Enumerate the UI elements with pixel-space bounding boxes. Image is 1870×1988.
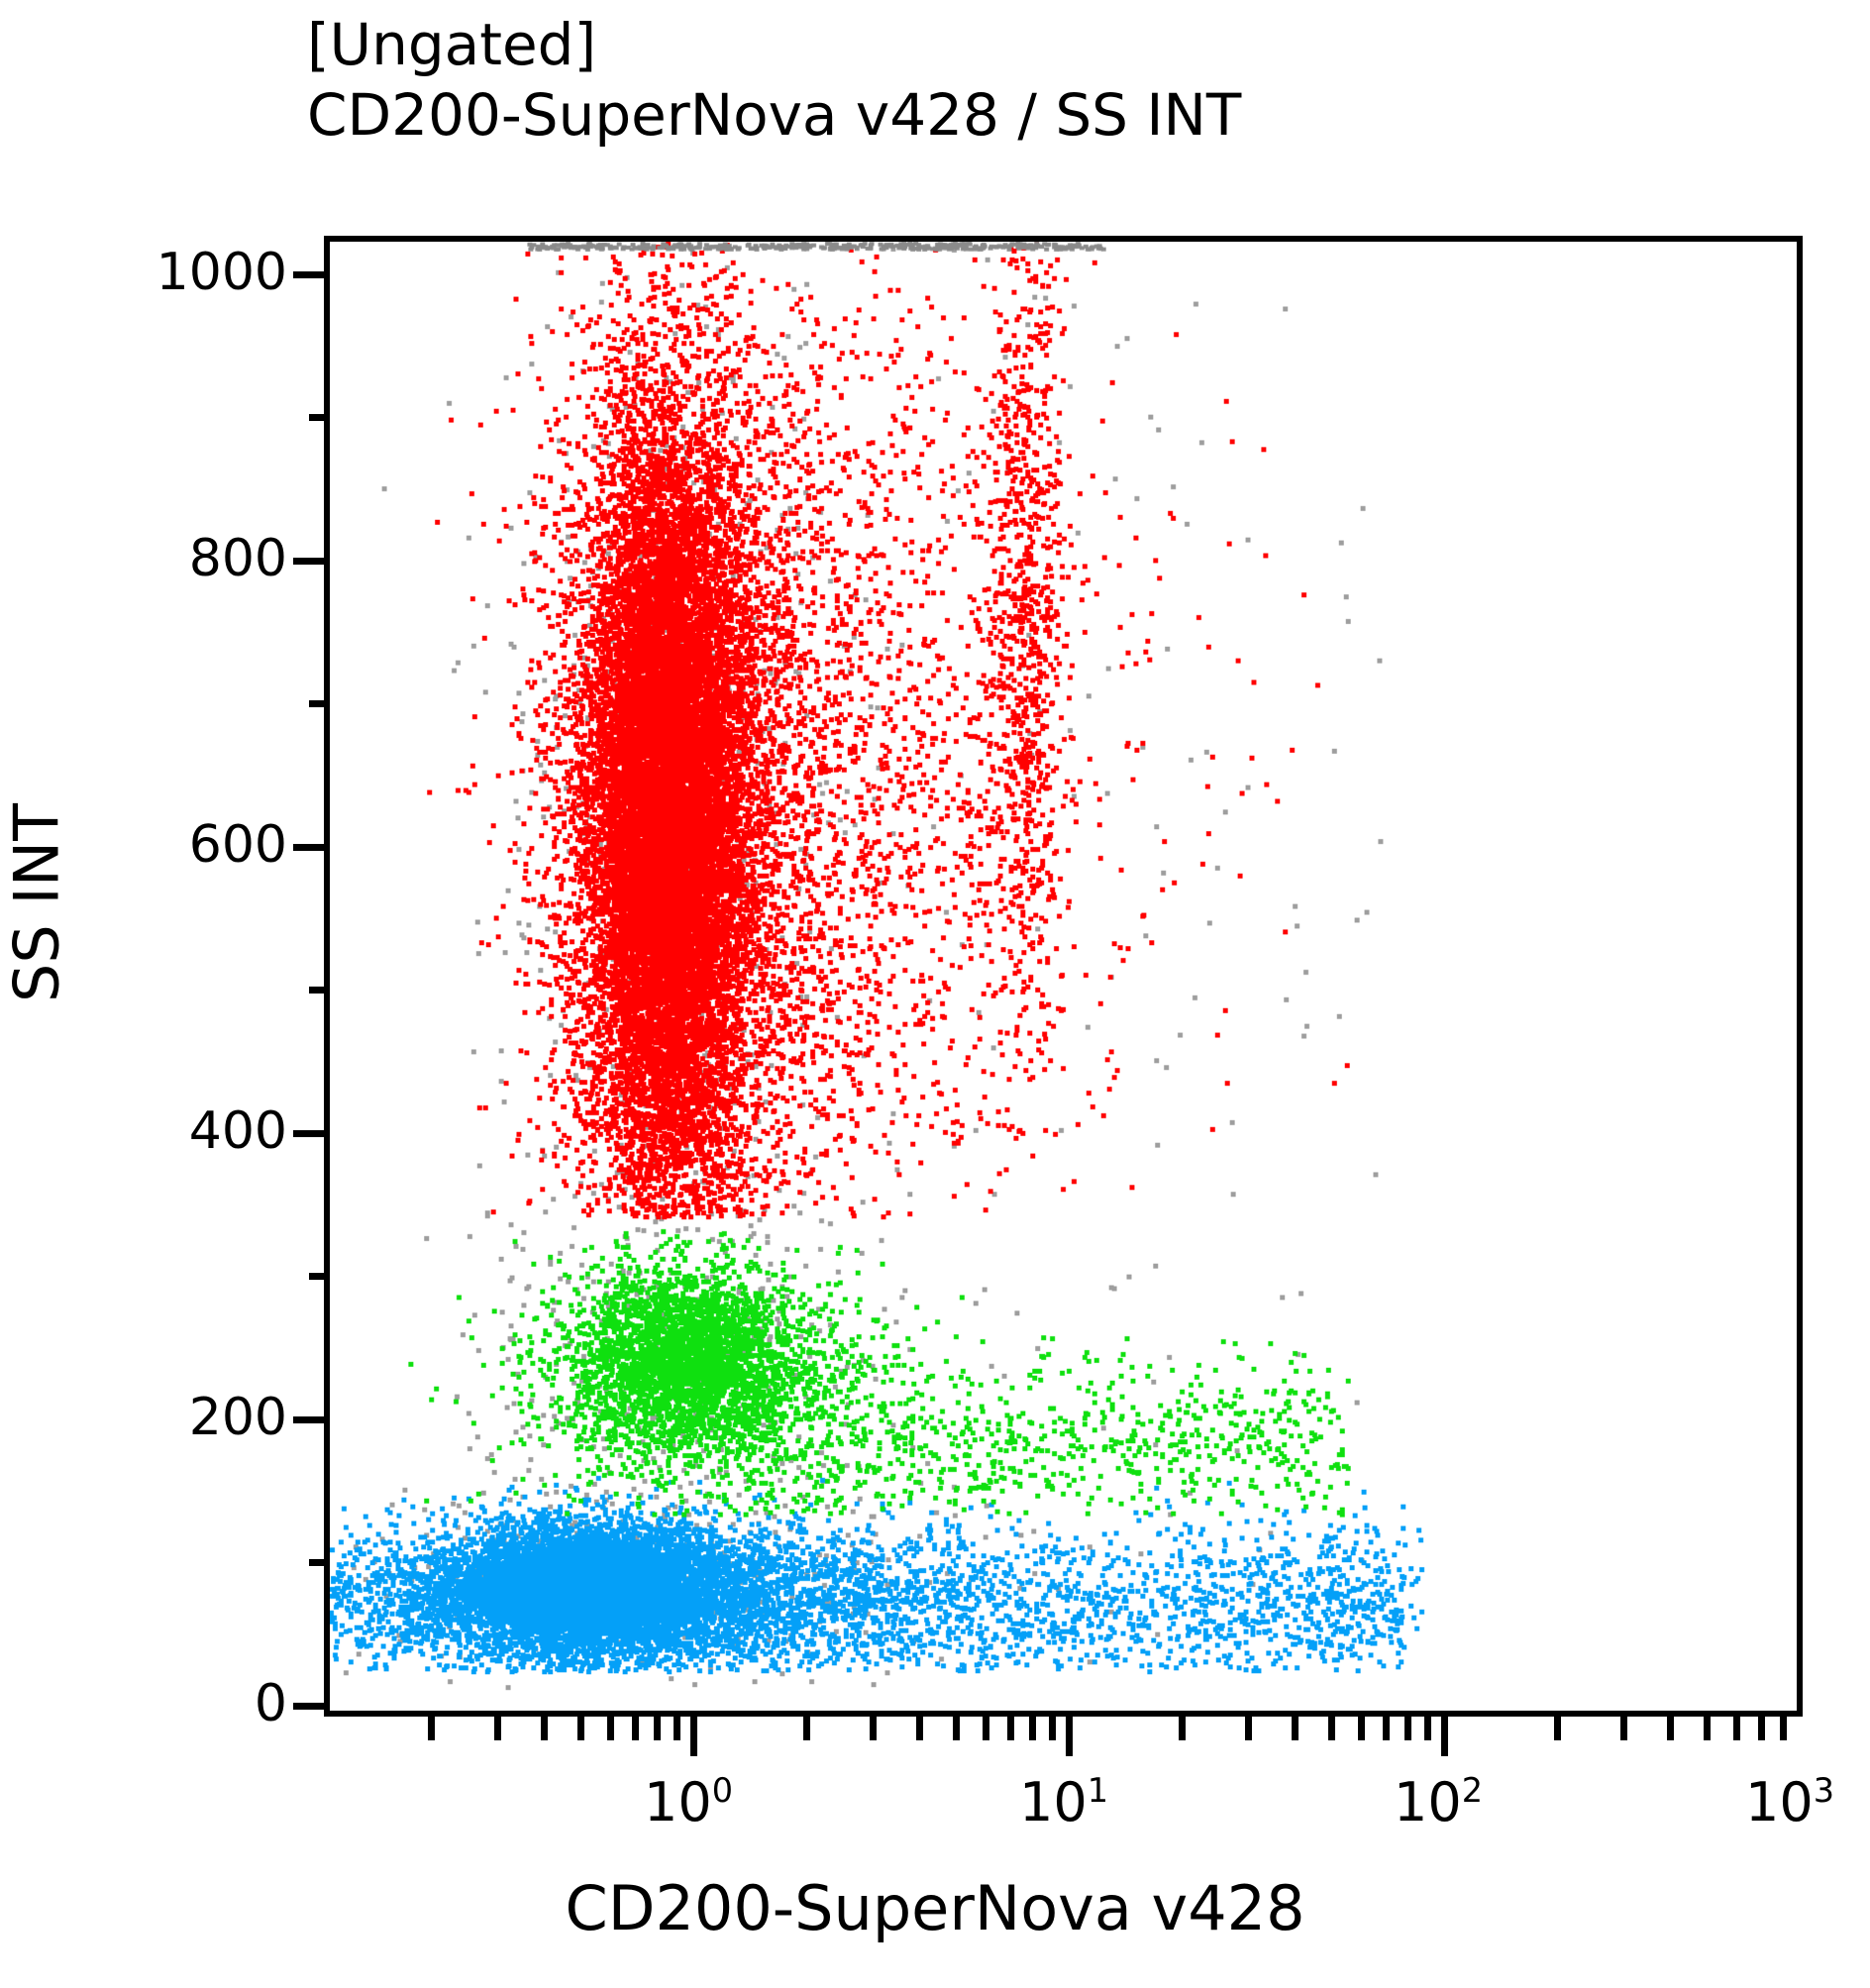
x-tick-mark-minor	[1667, 1717, 1674, 1740]
x-tick-mark-minor	[1554, 1717, 1561, 1740]
y-tick-mark-1000	[293, 271, 327, 278]
x-tick-mark-minor	[1179, 1717, 1186, 1740]
x-tick-mark-minor	[1424, 1717, 1431, 1740]
x-tick-mark-major	[690, 1717, 697, 1756]
x-tick-mark-minor	[1620, 1717, 1627, 1740]
plot-title-parameters: CD200-SuperNova v428 / SS INT	[307, 80, 1595, 151]
y-tick-mark-400	[293, 1130, 327, 1137]
x-tick-mark-major	[1066, 1717, 1073, 1756]
y-tick-mark-800	[293, 558, 327, 565]
x-tick-mark-minor	[1292, 1717, 1299, 1740]
y-tick-label-800: 800	[89, 529, 287, 588]
x-tick-label-1000: 103	[1745, 1771, 1834, 1833]
x-tick-mark-minor	[632, 1717, 639, 1740]
flow-cytometry-plot: [Ungated] CD200-SuperNova v428 / SS INT …	[0, 0, 1870, 1988]
x-tick-mark-minor	[1328, 1717, 1335, 1740]
y-tick-mark-0	[293, 1703, 327, 1710]
y-tick-label-400: 400	[89, 1101, 287, 1161]
x-tick-mark-minor	[654, 1717, 661, 1740]
x-tick-mark-minor	[870, 1717, 877, 1740]
x-tick-mark-minor	[1383, 1717, 1390, 1740]
x-axis-title: CD200-SuperNova v428	[0, 1872, 1870, 1944]
x-tick-mark-minor	[674, 1717, 680, 1740]
x-tick-mark-minor	[803, 1717, 810, 1740]
plot-title-gate: [Ungated]	[307, 10, 1595, 80]
x-tick-mark-minor	[1733, 1717, 1740, 1740]
x-tick-mark-minor	[607, 1717, 614, 1740]
x-tick-label-1: 100	[644, 1771, 733, 1833]
x-tick-mark-minor	[494, 1717, 501, 1740]
x-tick-mark-minor	[1758, 1717, 1765, 1740]
x-tick-mark-minor	[1029, 1717, 1036, 1740]
x-tick-mark-minor	[1780, 1717, 1787, 1740]
plot-title: [Ungated] CD200-SuperNova v428 / SS INT	[307, 10, 1595, 151]
x-tick-label-10: 101	[1019, 1771, 1108, 1833]
x-tick-mark-minor	[577, 1717, 584, 1740]
x-tick-mark-minor	[1007, 1717, 1014, 1740]
y-tick-label-600: 600	[89, 815, 287, 875]
x-tick-mark-minor	[1404, 1717, 1411, 1740]
x-tick-mark-minor	[428, 1717, 435, 1740]
x-tick-label-100: 102	[1394, 1771, 1483, 1833]
x-tick-mark-minor	[983, 1717, 989, 1740]
scatter-canvas	[330, 242, 1797, 1711]
x-tick-mark-minor	[541, 1717, 548, 1740]
y-tick-mark-600	[293, 844, 327, 851]
plot-area[interactable]	[324, 236, 1803, 1717]
x-tick-mark-minor	[1049, 1717, 1056, 1740]
x-tick-mark-minor	[1358, 1717, 1365, 1740]
y-tick-label-1000: 1000	[89, 243, 287, 302]
y-tick-label-200: 200	[89, 1388, 287, 1447]
x-tick-mark-major	[1441, 1717, 1448, 1756]
y-tick-mark-200	[293, 1416, 327, 1423]
y-tick-label-0: 0	[89, 1674, 287, 1733]
x-tick-mark-minor	[916, 1717, 923, 1740]
x-tick-mark-minor	[1245, 1717, 1252, 1740]
x-tick-mark-minor	[1704, 1717, 1711, 1740]
x-tick-mark-minor	[953, 1717, 960, 1740]
y-axis-title: SS INT	[1, 626, 73, 1181]
